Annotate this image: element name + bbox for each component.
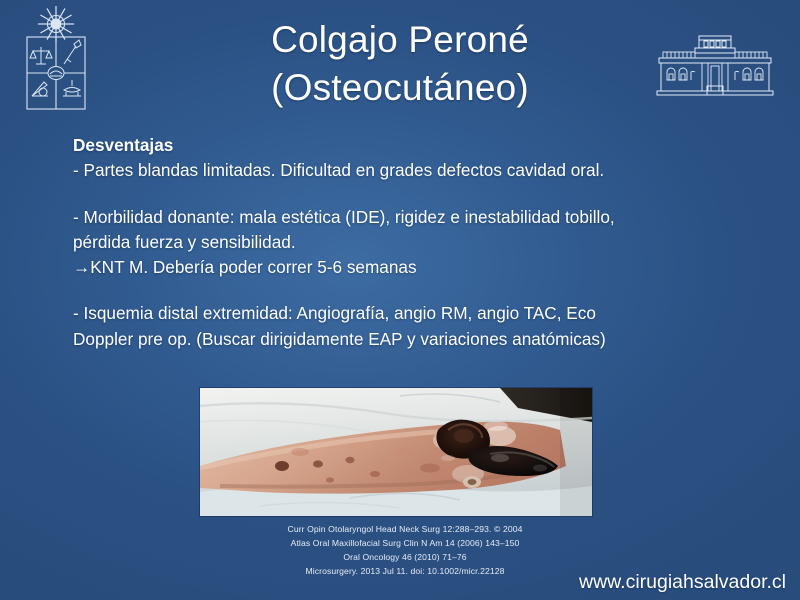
title-line-2: (Osteocutáneo)	[120, 64, 680, 112]
slide-body: Desventajas - Partes blandas limitadas. …	[73, 133, 773, 352]
presentation-slide: Colgajo Peroné (Osteocutáneo) Desventaja…	[0, 0, 800, 600]
clinical-photograph	[200, 388, 592, 516]
bullet-soft-tissue: - Partes blandas limitadas. Dificultad e…	[73, 158, 773, 183]
slide-title: Colgajo Peroné (Osteocutáneo)	[120, 16, 680, 112]
section-heading: Desventajas	[73, 133, 773, 158]
bullet-knt-recommendation: →KNT M. Debería poder correr 5-6 semanas	[73, 255, 773, 280]
bullet-distal-ischemia-line1: - Isquemia distal extremidad: Angiografí…	[73, 301, 773, 326]
bullet-donor-morbidity-line2: pérdida fuerza y sensibilidad.	[73, 230, 773, 255]
universidad-de-chile-logo	[14, 4, 98, 116]
bullet-donor-morbidity-line1: - Morbilidad donante: mala estética (IDE…	[73, 205, 773, 230]
citation-line: Curr Opin Otolaryngol Head Neck Surg 12:…	[150, 523, 660, 537]
bullet-distal-ischemia-line2: Doppler pre op. (Buscar dirigidamente EA…	[73, 327, 773, 352]
citation-line: Atlas Oral Maxillofacial Surg Clin N Am …	[150, 537, 660, 551]
title-line-1: Colgajo Peroné	[120, 16, 680, 64]
citation-line: Oral Oncology 46 (2010) 71–76	[150, 551, 660, 565]
paragraph-spacer	[73, 184, 773, 205]
paragraph-spacer-2	[73, 280, 773, 301]
website-url[interactable]: www.cirugiahsalvador.cl	[579, 571, 786, 594]
